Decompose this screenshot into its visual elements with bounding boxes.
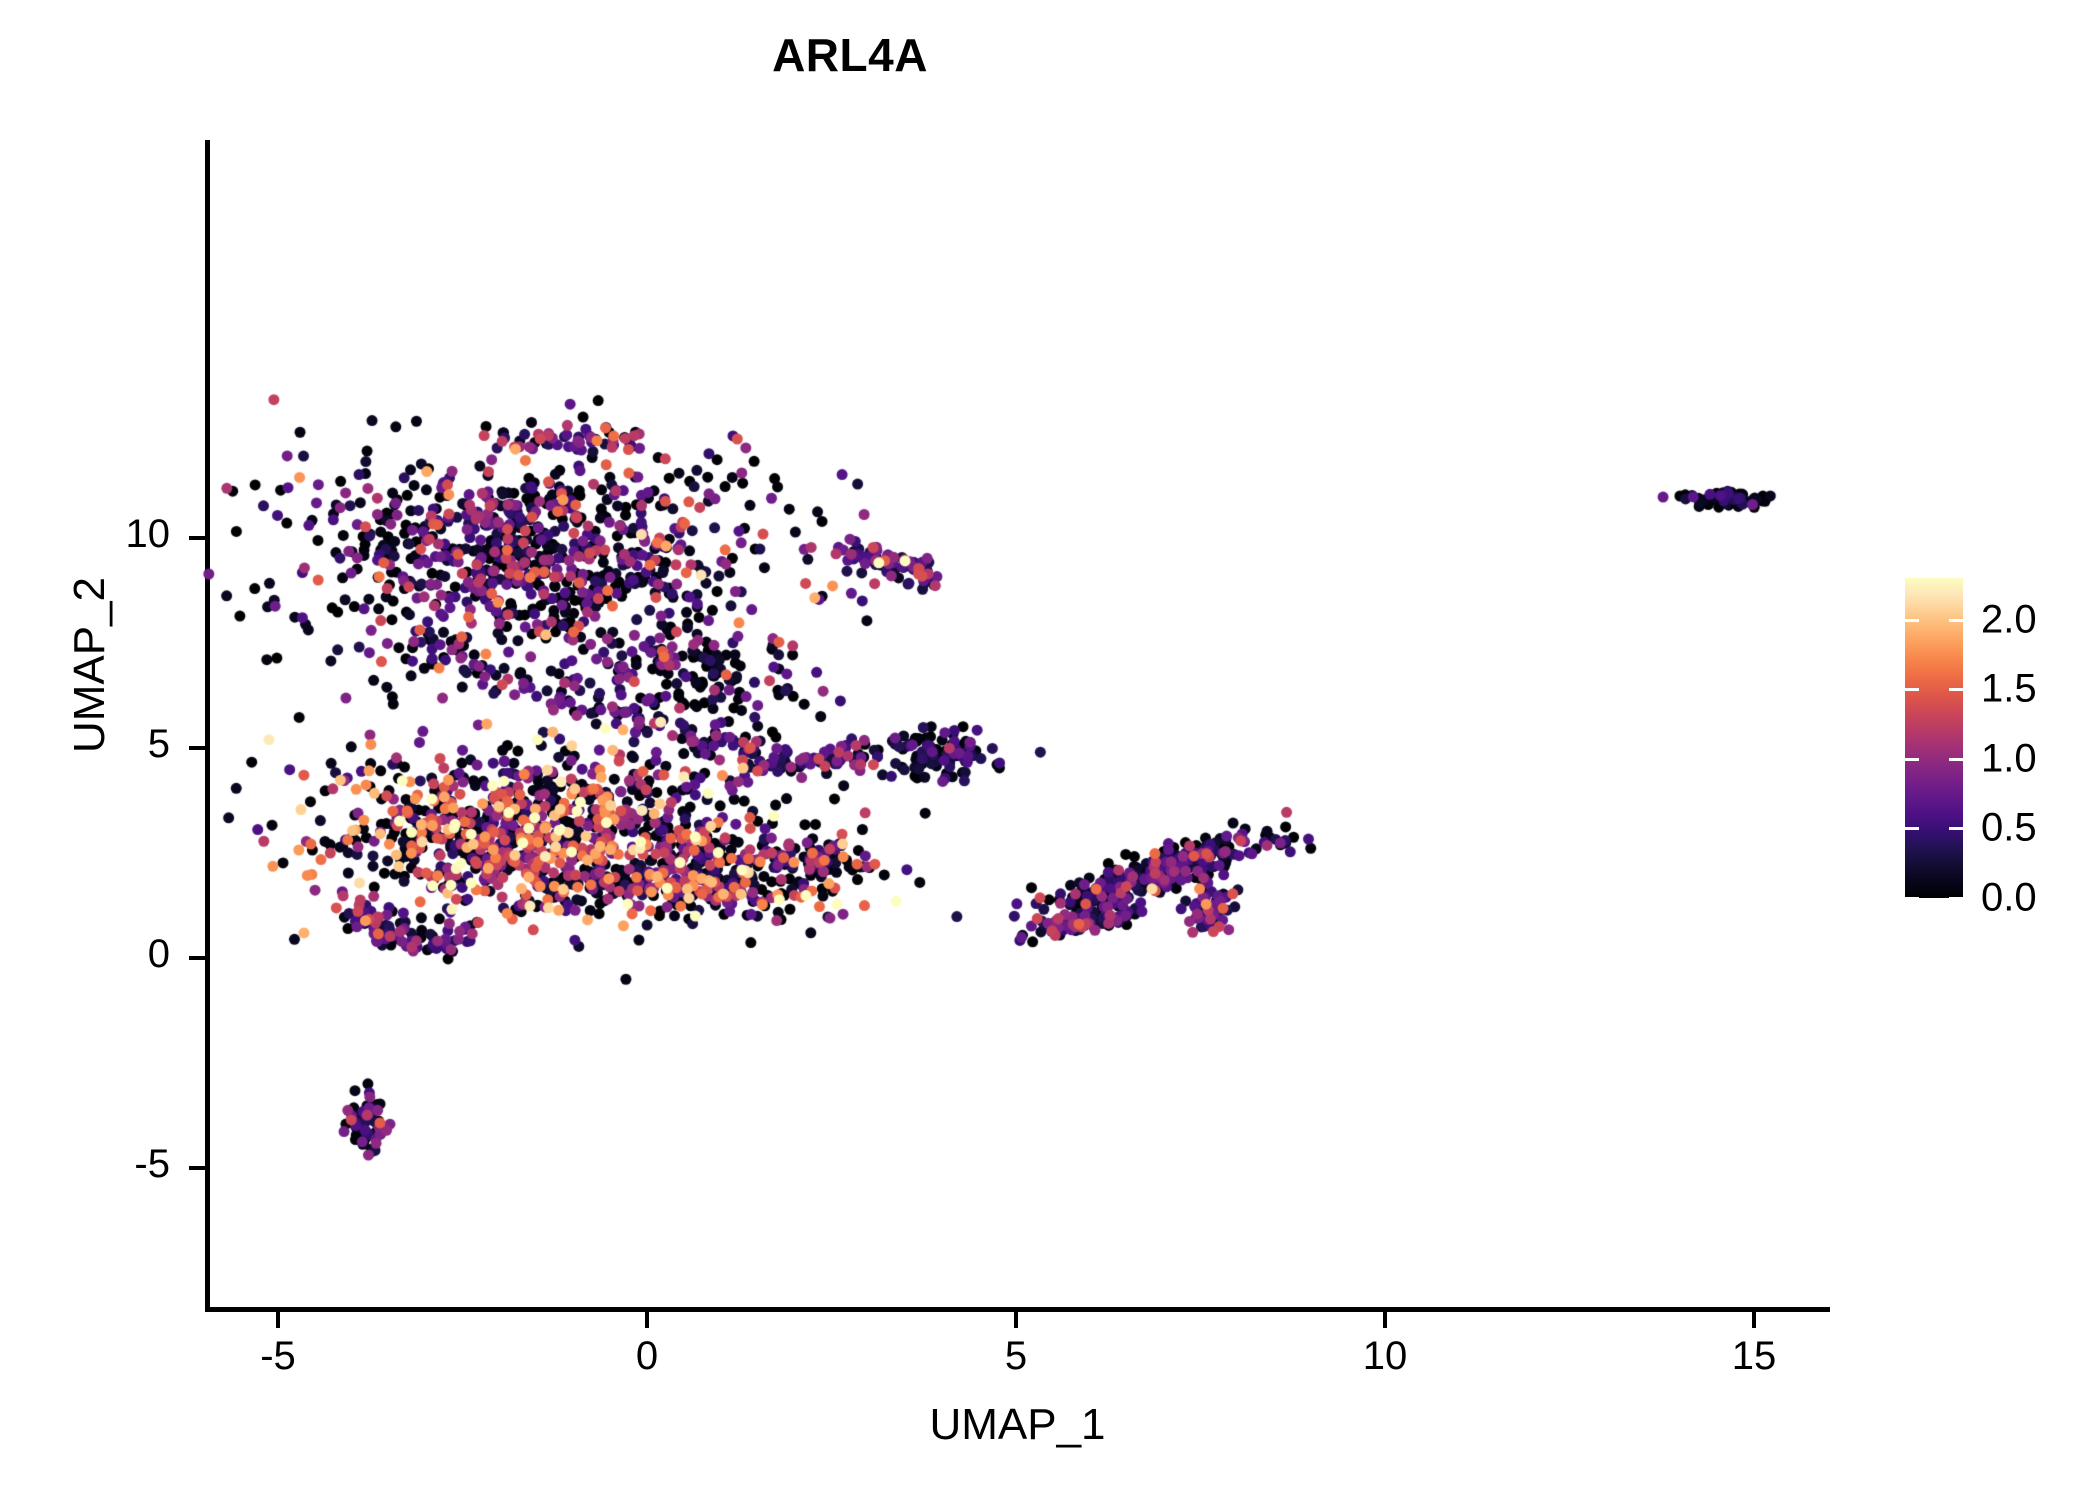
x-axis-label: UMAP_1 [205,1400,1830,1450]
colorbar-tick-label: 2.0 [1981,597,2037,642]
colorbar-tick [1905,619,1919,622]
colorbar-tick [1949,897,1963,900]
colorbar-tick [1949,688,1963,691]
colorbar-tick [1905,758,1919,761]
x-tick [1383,1312,1387,1328]
colorbar-tick [1949,827,1963,830]
y-tick [189,1166,205,1170]
y-tick-label: -5 [0,1142,170,1187]
colorbar-tick-label: 0.5 [1981,806,2037,851]
x-tick-label: 5 [946,1334,1086,1379]
x-tick-label: 15 [1684,1334,1824,1379]
y-tick [189,746,205,750]
x-tick [645,1312,649,1328]
scatter-canvas [0,0,2100,1500]
colorbar-tick [1905,688,1919,691]
colorbar-tick-label: 0.0 [1981,876,2037,921]
colorbar-gradient [1905,578,1963,898]
y-axis-label: UMAP_2 [65,265,115,1065]
colorbar-tick [1949,619,1963,622]
x-tick-label: -5 [208,1334,348,1379]
colorbar-tick-label: 1.0 [1981,736,2037,781]
colorbar-tick-label: 1.5 [1981,667,2037,712]
x-tick-label: 0 [577,1334,717,1379]
colorbar-tick [1905,897,1919,900]
color-legend: 2.01.51.00.50.0 [1905,578,2095,908]
x-tick [276,1312,280,1328]
colorbar-tick [1949,758,1963,761]
x-tick [1014,1312,1018,1328]
umap-feature-plot: ARL4A -5051015 -50510 UMAP_1 UMAP_2 2.01… [0,0,2100,1500]
y-tick [189,536,205,540]
y-tick [189,956,205,960]
x-tick-label: 10 [1315,1334,1455,1379]
x-tick [1752,1312,1756,1328]
colorbar-tick [1905,827,1919,830]
